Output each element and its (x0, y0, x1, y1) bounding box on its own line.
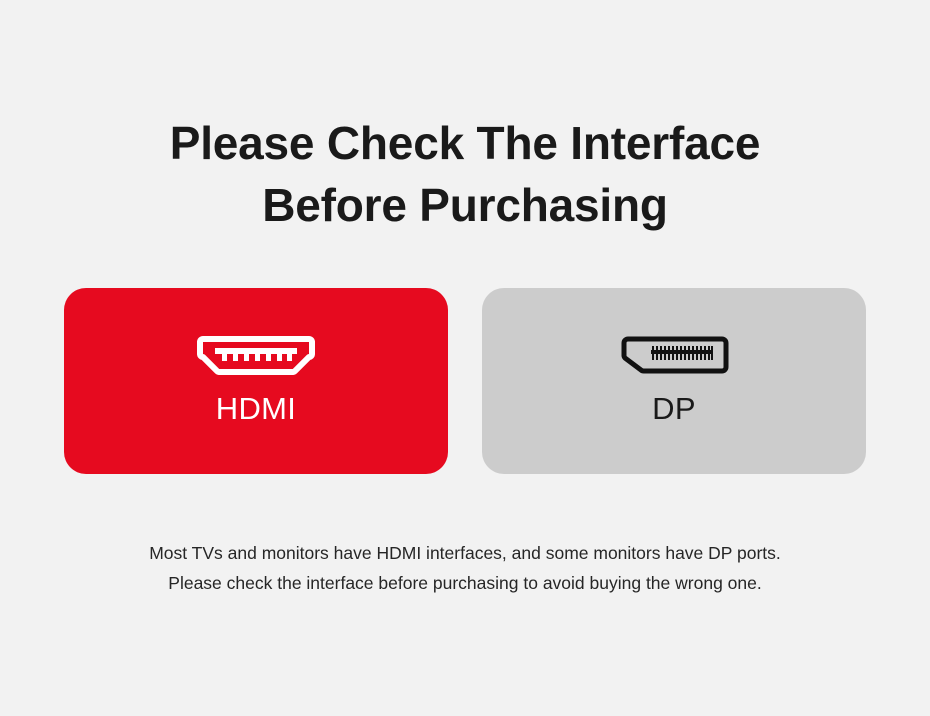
interface-card-dp-label: DP (652, 392, 696, 426)
caption-line-2: Please check the interface before purcha… (0, 568, 930, 598)
displayport-port-icon (618, 334, 730, 378)
interface-card-dp[interactable]: DP (482, 288, 866, 474)
page-title: Please Check The Interface Before Purcha… (0, 112, 930, 236)
page-title-line-1: Please Check The Interface (0, 112, 930, 174)
product-info-banner: Please Check The Interface Before Purcha… (0, 0, 930, 716)
hdmi-port-icon (197, 334, 315, 378)
page-title-line-2: Before Purchasing (0, 174, 930, 236)
interface-card-hdmi[interactable]: HDMI (64, 288, 448, 474)
interface-card-row: HDMI (64, 288, 866, 474)
caption-line-1: Most TVs and monitors have HDMI interfac… (0, 538, 930, 568)
interface-card-hdmi-label: HDMI (216, 392, 296, 426)
caption-text: Most TVs and monitors have HDMI interfac… (0, 538, 930, 598)
